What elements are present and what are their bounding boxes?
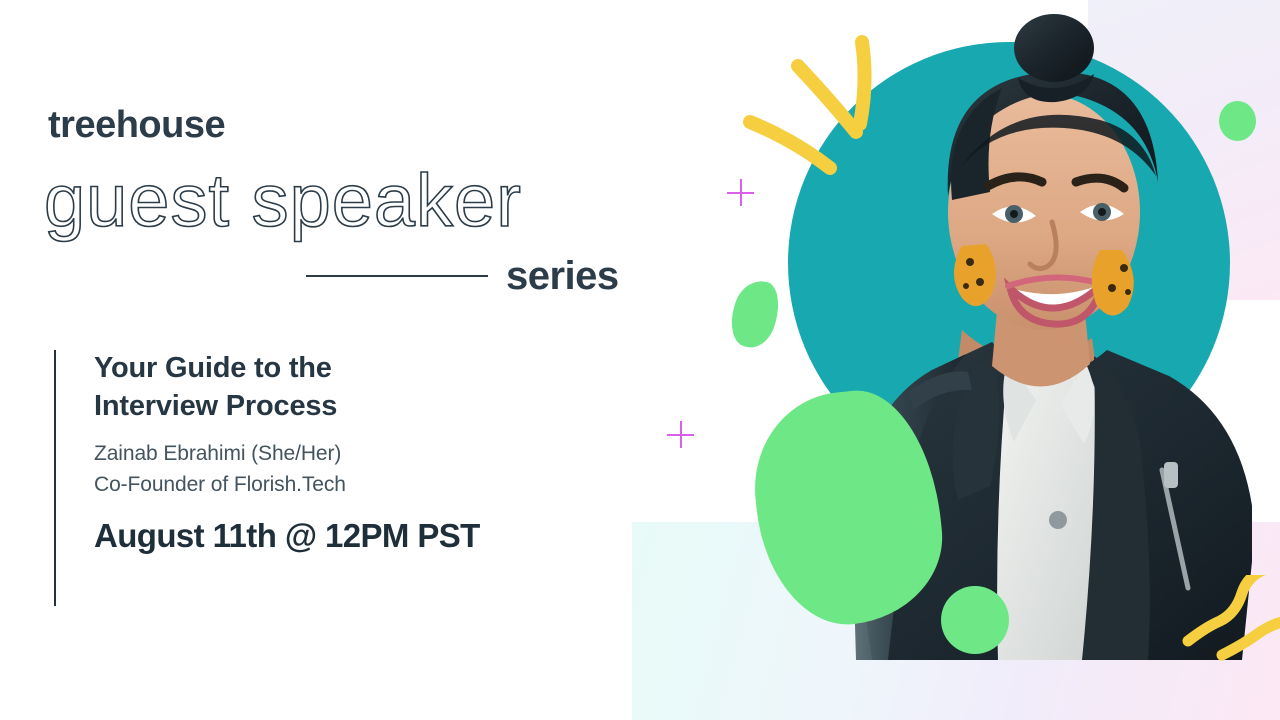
green-circle-bottom	[941, 586, 1009, 654]
talk-title: Your Guide to the Interview Process	[94, 350, 434, 425]
green-blob-small	[724, 275, 785, 352]
magenta-plus-icon-upper	[727, 179, 754, 206]
session-datetime: August 11th @ 12PM PST	[94, 518, 480, 554]
yellow-sparkle-strokes	[740, 30, 920, 200]
headline-outline: guest speaker	[36, 160, 656, 240]
series-divider-rule	[306, 275, 488, 277]
guest-speaker-promo-slide: treehouse guest speaker series Your Guid…	[0, 0, 1280, 720]
svg-text:guest speaker: guest speaker	[44, 160, 522, 242]
series-word: series	[506, 256, 619, 296]
session-info-block: Your Guide to the Interview Process Zain…	[54, 350, 480, 606]
speaker-name: Zainab Ebrahimi (She/Her)	[94, 439, 480, 469]
series-row: series	[306, 256, 619, 296]
talk-title-line-1: Your Guide to the	[94, 352, 332, 384]
talk-title-line-2: Interview Process	[94, 390, 337, 422]
magenta-plus-icon-lower	[667, 421, 694, 448]
brand-name: treehouse	[48, 106, 225, 144]
yellow-squiggle-strokes	[1160, 575, 1280, 675]
speaker-role: Co-Founder of Florish.Tech	[94, 470, 480, 500]
